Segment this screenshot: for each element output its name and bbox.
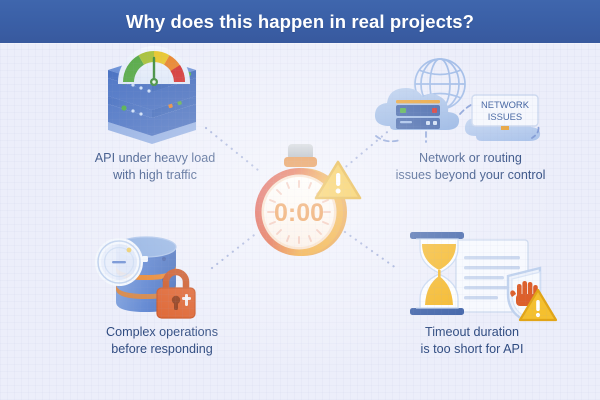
sign-line1: NETWORK xyxy=(481,99,530,110)
label-bottom-left-line2: before responding xyxy=(111,342,213,356)
label-bottom-right-line1: Timeout duration xyxy=(425,325,519,339)
label-top-right-line1: Network or routing xyxy=(419,151,522,165)
label-bottom-right-line2: is too short for API xyxy=(421,342,524,356)
label-top-left: API under heavy load with high traffic xyxy=(55,150,255,183)
label-bottom-left-line1: Complex operations xyxy=(106,325,218,339)
label-top-left-line1: API under heavy load xyxy=(95,151,215,165)
node-bottom-right xyxy=(398,228,558,323)
stopwatch-digits: 0:00 xyxy=(274,199,324,227)
label-top-left-line2: with high traffic xyxy=(113,168,197,182)
server-gauge-icon xyxy=(92,52,212,147)
stopwatch-icon: 0:00 xyxy=(243,140,361,262)
sign-line2: ISSUES xyxy=(488,111,522,122)
label-top-right-line2: issues beyond your control xyxy=(396,168,546,182)
database-lock-search-icon xyxy=(86,232,208,320)
infographic-canvas: API under heavy load with high traffic xyxy=(0,0,600,400)
hourglass-document-shield-icon xyxy=(398,228,558,323)
label-top-right: Network or routing issues beyond your co… xyxy=(368,150,573,183)
label-bottom-left: Complex operations before responding xyxy=(62,324,262,357)
label-bottom-right: Timeout duration is too short for API xyxy=(372,324,572,357)
header-bar: Why does this happen in real projects? xyxy=(0,0,600,43)
node-center-stopwatch: 0:00 xyxy=(243,140,361,262)
node-top-right: NETWORK ISSUES xyxy=(372,58,544,146)
node-bottom-left xyxy=(86,232,208,320)
network-issues-sign: NETWORK ISSUES xyxy=(472,95,538,126)
page-title: Why does this happen in real projects? xyxy=(126,11,474,33)
node-top-left xyxy=(92,52,212,147)
cloud-globe-network-icon: NETWORK ISSUES xyxy=(372,58,544,146)
